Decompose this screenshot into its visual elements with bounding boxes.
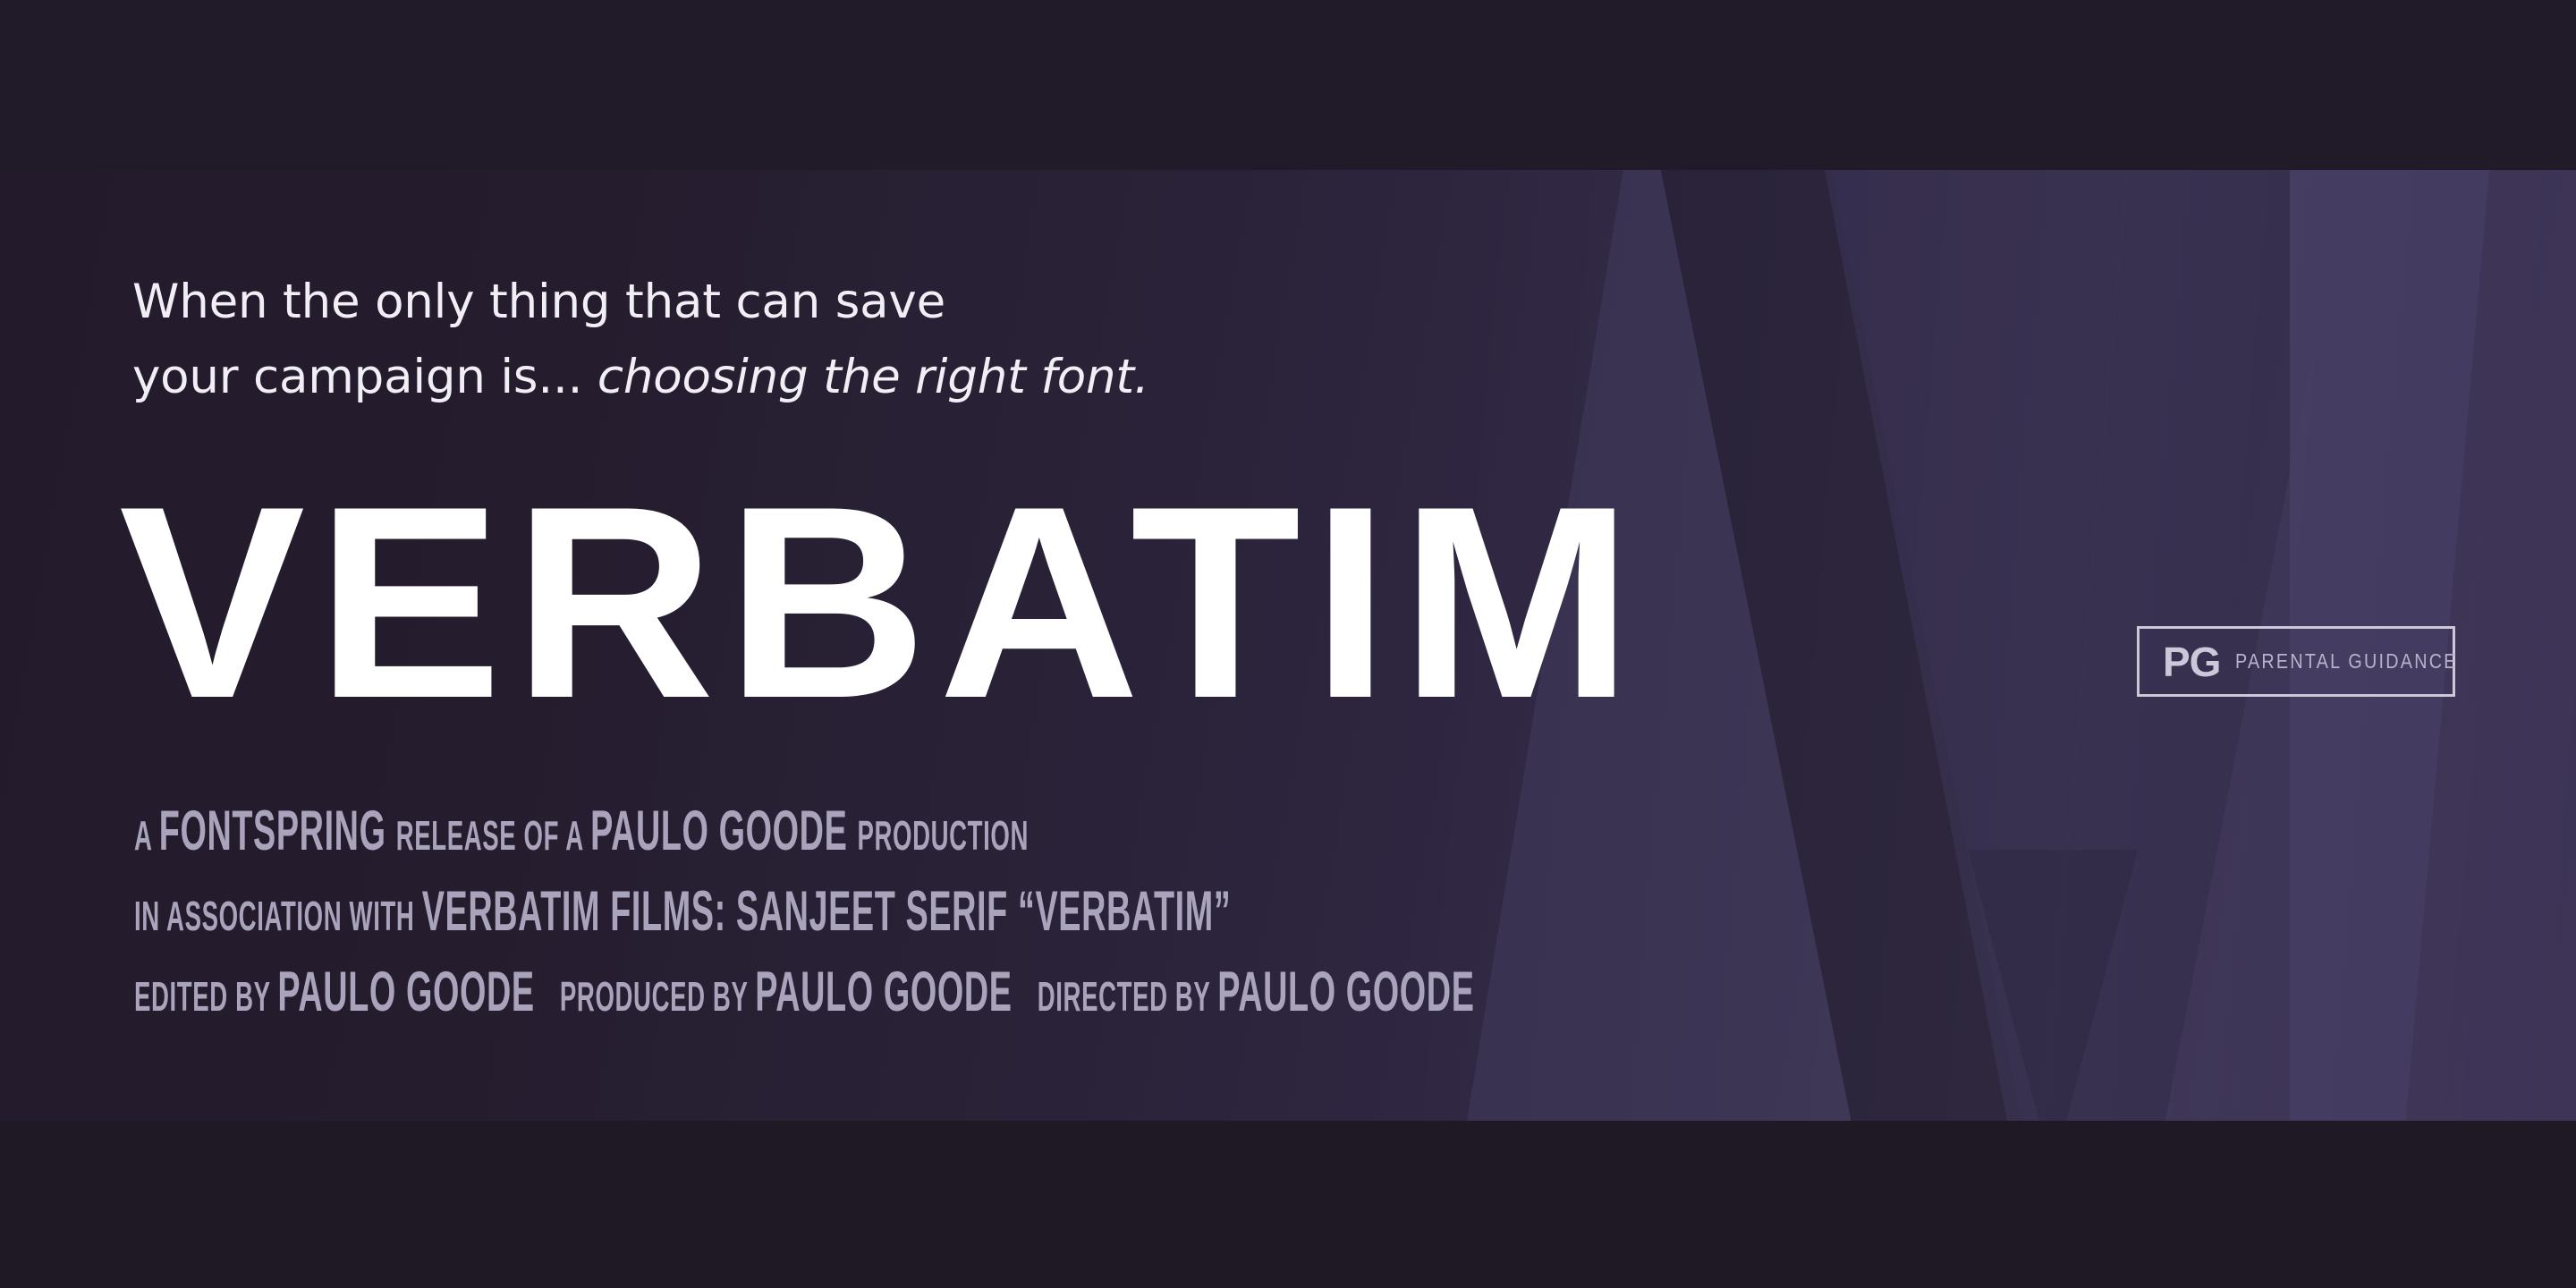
page-title: VERBATIM — [119, 465, 1644, 739]
credits-run: PAULO GOODE — [590, 800, 857, 862]
credits-line-3: EDITED BY PAULO GOODE PRODUCED BY PAULO … — [134, 964, 1475, 1025]
credits-line-2: IN ASSOCIATION WITH VERBATIM FILMS: SANJ… — [134, 884, 1475, 945]
rating-badge: PG PARENTAL GUIDANCE — [2137, 626, 2455, 697]
credits-run: PAULO GOODE — [277, 961, 534, 1023]
tagline-line-2-italic: choosing the right font. — [597, 350, 1149, 404]
font-specimen-banner: When the only thing that can save your c… — [0, 0, 2576, 1288]
banner-content: When the only thing that can save your c… — [0, 0, 2576, 1288]
tagline-line-1: When the only thing that can save — [132, 275, 945, 329]
rating-badge-mark: PG — [2163, 641, 2220, 682]
credits-run: PAULO GOODE — [755, 961, 1012, 1023]
tagline-line-2-plain: your campaign is... — [132, 350, 597, 404]
credits-run: DIRECTED BY — [1013, 973, 1218, 1020]
credits-run: RELEASE OF A — [396, 812, 590, 859]
credits-block: A FONTSPRING RELEASE OF A PAULO GOODE PR… — [134, 803, 2368, 1025]
credits-line-1: A FONTSPRING RELEASE OF A PAULO GOODE PR… — [134, 803, 1475, 864]
credits-run: PRODUCTION — [857, 812, 1029, 859]
credits-run: EDITED BY — [134, 973, 277, 1020]
credits-run: IN ASSOCIATION WITH — [134, 893, 422, 939]
credits-run: FONTSPRING — [159, 800, 396, 862]
credits-run: PAULO GOODE — [1217, 961, 1474, 1023]
credits-run: VERBATIM FILMS: SANJEET SERIF “VERBATIM” — [422, 880, 1232, 943]
credits-run: PRODUCED BY — [535, 973, 756, 1020]
rating-badge-label: PARENTAL GUIDANCE — [2235, 651, 2458, 672]
tagline: When the only thing that can save your c… — [132, 265, 1149, 415]
credits-run: A — [134, 812, 159, 859]
